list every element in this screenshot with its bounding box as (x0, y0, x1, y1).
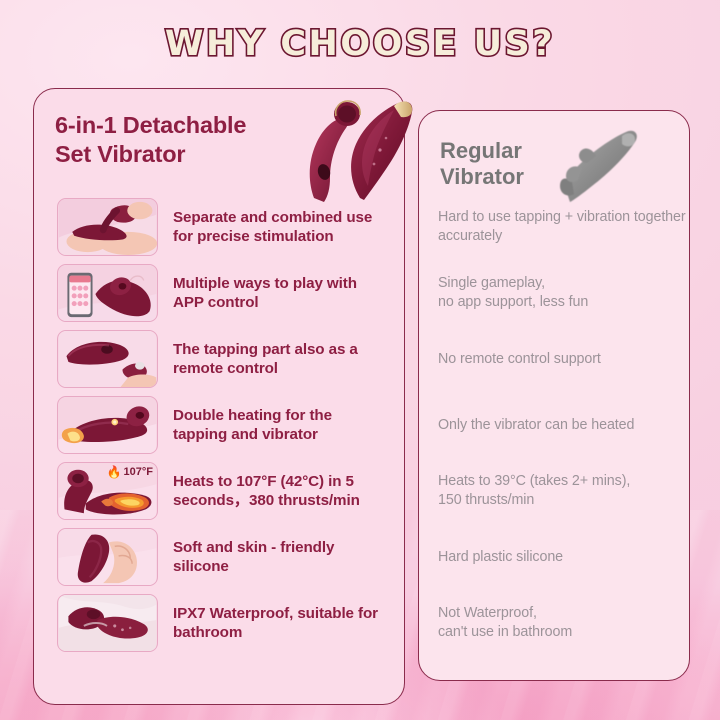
left-feature-list: Separate and combined use for precise st… (57, 198, 397, 660)
drawback-row: Not Waterproof,can't use in bathroom (438, 594, 688, 652)
drawback-text: Hard plastic silicone (438, 548, 563, 567)
feature-row: IPX7 Waterproof, suitable for bathroom (57, 594, 397, 652)
drawback-text: Not Waterproof,can't use in bathroom (438, 604, 572, 642)
drawback-text: Only the vibrator can be heated (438, 416, 634, 435)
feature-text: IPX7 Waterproof, suitable for bathroom (173, 604, 388, 643)
feature-row: Double heating for the tapping and vibra… (57, 396, 397, 454)
feature-row: The tapping part also as a remote contro… (57, 330, 397, 388)
feature-text: The tapping part also as a remote contro… (173, 340, 388, 379)
thumb-separate-combined-use (57, 198, 158, 256)
flame-icon: 🔥 (107, 466, 122, 478)
right-panel-heading: Regular Vibrator (440, 138, 570, 191)
drawback-row: Only the vibrator can be heated (438, 396, 688, 454)
feature-text: Soft and skin - friendly silicone (173, 538, 388, 577)
drawback-text: Single gameplay,no app support, less fun (438, 274, 588, 312)
feature-row: Multiple ways to play with APP control (57, 264, 397, 322)
thumb-app-control (57, 264, 158, 322)
thumb-soft-silicone (57, 528, 158, 586)
page-title: WHY CHOOSE US? (0, 24, 720, 64)
feature-text: Multiple ways to play with APP control (173, 274, 388, 313)
thumb-heat-107f: 🔥 107°F (57, 462, 158, 520)
heat-badge-label: 107°F (124, 467, 153, 478)
left-heading-line1: 6-in-1 Detachable (55, 111, 315, 140)
feature-text: Heats to 107°F (42°C) in 5 seconds，380 t… (173, 472, 388, 511)
detachable-set-vibrator-photo (288, 86, 414, 204)
thumb-double-heating (57, 396, 158, 454)
right-heading-line1: Regular (440, 138, 570, 164)
drawback-row: Hard to use tapping + vibration together… (438, 198, 688, 256)
thumb-ipx7-waterproof (57, 594, 158, 652)
drawback-text: Heats to 39°C (takes 2+ mins),150 thrust… (438, 472, 630, 510)
feature-row: 🔥 107°F Heats to 107°F (42°C) in 5 secon… (57, 462, 397, 520)
drawback-row: Single gameplay,no app support, less fun (438, 264, 688, 322)
left-panel-heading: 6-in-1 Detachable Set Vibrator (55, 111, 315, 168)
left-heading-line2: Set Vibrator (55, 140, 315, 169)
drawback-row: Heats to 39°C (takes 2+ mins),150 thrust… (438, 462, 688, 520)
regular-vibrator-photo (552, 122, 644, 206)
feature-text: Separate and combined use for precise st… (173, 208, 388, 247)
thumb-tapping-remote (57, 330, 158, 388)
heat-badge: 🔥 107°F (107, 466, 153, 478)
right-feature-list: Hard to use tapping + vibration together… (438, 198, 688, 660)
right-heading-line2: Vibrator (440, 164, 570, 190)
feature-text: Double heating for the tapping and vibra… (173, 406, 388, 445)
feature-row: Separate and combined use for precise st… (57, 198, 397, 256)
drawback-text: Hard to use tapping + vibration together… (438, 208, 688, 246)
drawback-row: Hard plastic silicone (438, 528, 688, 586)
drawback-text: No remote control support (438, 350, 601, 369)
drawback-row: No remote control support (438, 330, 688, 388)
feature-row: Soft and skin - friendly silicone (57, 528, 397, 586)
